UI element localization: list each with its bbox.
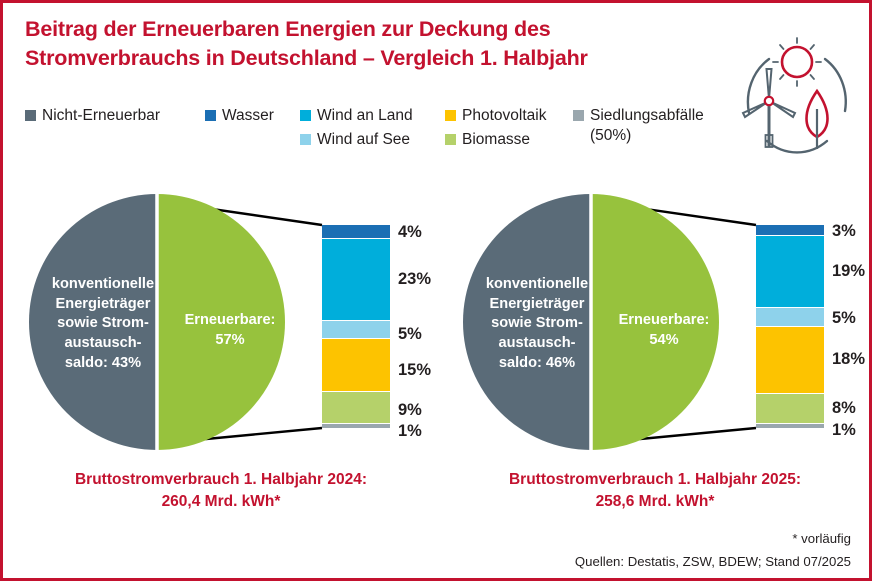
- bar-segment-wind-an-land: [756, 236, 824, 307]
- ren-line-1: Erneuerbare:: [185, 312, 276, 328]
- ren-line-2: 57%: [215, 332, 244, 348]
- legend-label-photovoltaik: Photovoltaik: [462, 106, 546, 126]
- bar-value-photovoltaik: 15%: [398, 361, 431, 380]
- legend-label-wasser: Wasser: [222, 106, 274, 126]
- leaf-icon: [807, 91, 828, 149]
- page-title: Beitrag der Erneuerbaren Energien zur De…: [25, 15, 725, 72]
- conv-line-3: sowie Strom-: [491, 315, 583, 331]
- caption-2025-line-1: Bruttostromverbrauch 1. Halbjahr 2025:: [509, 471, 801, 488]
- legend-item-wind-auf-see: Wind auf See: [300, 130, 410, 150]
- conv-line-3: sowie Strom-: [57, 315, 149, 331]
- pie-label-conventional-2024: konventionelle Energieträger sowie Strom…: [39, 275, 167, 373]
- bar-segment-photovoltaik: [322, 339, 390, 392]
- conv-line-5: saldo: 43%: [65, 355, 141, 371]
- pie-label-renewable-2024: Erneuerbare: 57%: [171, 311, 289, 350]
- bar-segment-siedlungsabfaelle: [322, 424, 390, 428]
- bar-segment-wasser: [322, 225, 390, 239]
- sun-icon: [782, 47, 812, 77]
- caption-2025: Bruttostromverbrauch 1. Halbjahr 2025: 2…: [455, 469, 855, 513]
- bar-segment-wasser: [756, 225, 824, 236]
- bar-segment-wind-an-land: [322, 239, 390, 321]
- pie-chart-2024: konventionelle Energieträger sowie Strom…: [25, 189, 295, 455]
- bar-value-wasser: 4%: [398, 223, 422, 242]
- bar-value-labels-2025: 3% 19% 5% 18% 8% 1%: [832, 225, 872, 428]
- caption-2025-line-2: 258,6 Mrd. kWh*: [455, 491, 855, 513]
- legend-label-biomasse: Biomasse: [462, 130, 530, 150]
- legend-item-photovoltaik: Photovoltaik: [445, 106, 546, 126]
- pie-label-renewable-2025: Erneuerbare: 54%: [605, 311, 723, 350]
- conv-line-4: austausch-: [64, 335, 141, 351]
- bar-value-biomasse: 8%: [832, 399, 856, 418]
- wind-turbine-icon: [743, 69, 795, 147]
- stacked-bar-2025: [756, 225, 824, 428]
- legend-label-siedlungsabfaelle-sub: (50%): [590, 126, 704, 146]
- legend-item-wind-an-land: Wind an Land: [300, 106, 413, 126]
- stacked-bar-2024: [322, 225, 390, 428]
- bar-segment-wind-auf-see: [756, 308, 824, 327]
- legend-label-siedlungsabfaelle: Siedlungsabfälle (50%): [590, 106, 704, 146]
- footnote-preliminary: * vorläufig: [792, 531, 851, 546]
- bar-segment-photovoltaik: [756, 327, 824, 395]
- ren-line-1: Erneuerbare:: [619, 312, 710, 328]
- conv-line-1: konventionelle: [52, 276, 154, 292]
- ren-line-2: 54%: [649, 332, 678, 348]
- erneuerbare-energien-logo: [741, 25, 853, 155]
- conv-line-4: austausch-: [498, 335, 575, 351]
- bar-value-wind-auf-see: 5%: [398, 325, 422, 344]
- caption-2024-line-2: 260,4 Mrd. kWh*: [21, 491, 421, 513]
- bar-segment-biomasse: [756, 394, 824, 424]
- legend-item-wasser: Wasser: [205, 106, 274, 126]
- conv-line-2: Energieträger: [490, 296, 585, 312]
- legend-swatch-wasser: [205, 110, 216, 121]
- legend-item-biomasse: Biomasse: [445, 130, 530, 150]
- bar-value-wind-an-land: 23%: [398, 270, 431, 289]
- bar-value-wind-an-land: 19%: [832, 262, 865, 281]
- caption-2024: Bruttostromverbrauch 1. Halbjahr 2024: 2…: [21, 469, 421, 513]
- title-line-1: Beitrag der Erneuerbaren Energien zur De…: [25, 15, 725, 44]
- legend-swatch-wind-an-land: [300, 110, 311, 121]
- bar-value-siedlungsabfaelle: 1%: [832, 421, 856, 440]
- bar-value-siedlungsabfaelle: 1%: [398, 422, 422, 441]
- bar-segment-biomasse: [322, 392, 390, 424]
- bar-value-biomasse: 9%: [398, 401, 422, 420]
- legend-swatch-nicht-erneuerbar: [25, 110, 36, 121]
- bar-value-wasser: 3%: [832, 222, 856, 241]
- legend-label-nicht-erneuerbar: Nicht-Erneuerbar: [42, 106, 160, 126]
- bar-value-labels-2024: 4% 23% 5% 15% 9% 1%: [398, 225, 460, 428]
- footnote-sources: Quellen: Destatis, ZSW, BDEW; Stand 07/2…: [575, 554, 851, 569]
- legend-item-nicht-erneuerbar: Nicht-Erneuerbar: [25, 106, 160, 126]
- legend-swatch-wind-auf-see: [300, 134, 311, 145]
- legend-item-siedlungsabfaelle: Siedlungsabfälle (50%): [573, 106, 704, 146]
- bar-segment-wind-auf-see: [322, 321, 390, 339]
- bar-value-wind-auf-see: 5%: [832, 309, 856, 328]
- conv-line-1: konventionelle: [486, 276, 588, 292]
- bar-value-photovoltaik: 18%: [832, 350, 865, 369]
- legend-label-wind-an-land: Wind an Land: [317, 106, 413, 126]
- bar-segment-siedlungsabfaelle: [756, 424, 824, 428]
- title-line-2: Stromverbrauchs in Deutschland – Verglei…: [25, 44, 725, 73]
- legend-label-siedlungsabfaelle-main: Siedlungsabfälle: [590, 107, 704, 124]
- legend-label-wind-auf-see: Wind auf See: [317, 130, 410, 150]
- conv-line-2: Energieträger: [56, 296, 151, 312]
- pie-label-conventional-2025: konventionelle Energieträger sowie Strom…: [473, 275, 601, 373]
- caption-2024-line-1: Bruttostromverbrauch 1. Halbjahr 2024:: [75, 471, 367, 488]
- legend-swatch-siedlungsabfaelle: [573, 110, 584, 121]
- legend-swatch-biomasse: [445, 134, 456, 145]
- legend-swatch-photovoltaik: [445, 110, 456, 121]
- pie-chart-2025: konventionelle Energieträger sowie Strom…: [459, 189, 729, 455]
- infographic-root: Beitrag der Erneuerbaren Energien zur De…: [0, 0, 872, 581]
- conv-line-5: saldo: 46%: [499, 355, 575, 371]
- legend: Nicht-Erneuerbar Wasser Wind an Land Win…: [25, 106, 755, 160]
